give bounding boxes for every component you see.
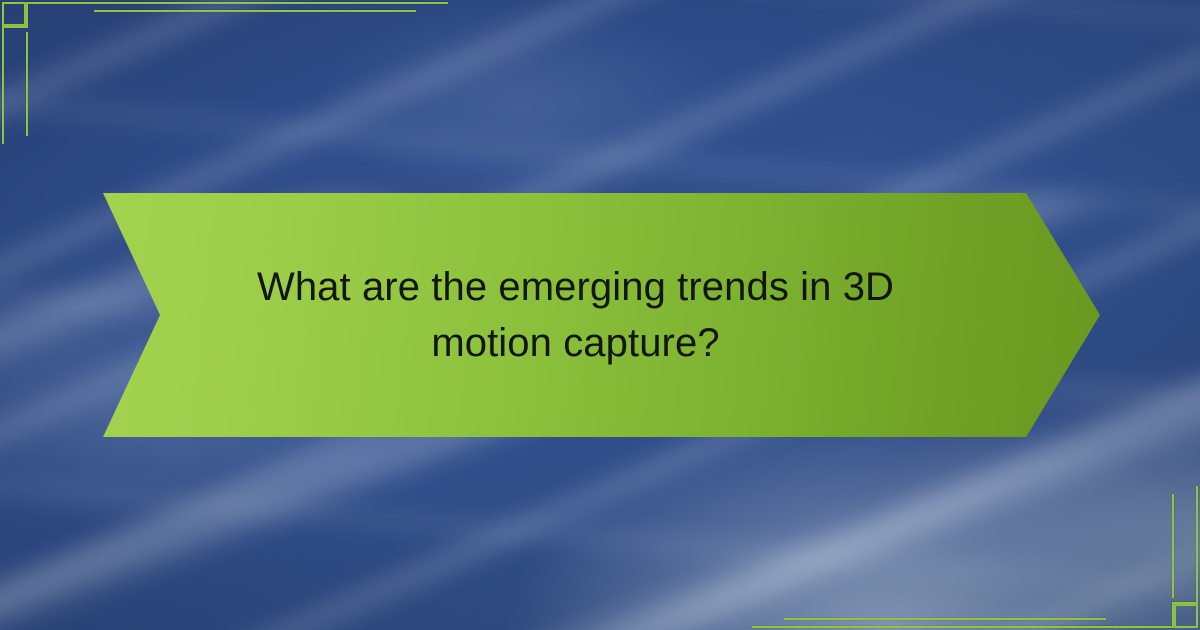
corner-square-icon	[2, 2, 26, 26]
corner-hook-horizontal-2	[1172, 602, 1198, 604]
corner-hook-vertical	[1172, 602, 1174, 628]
question-text: What are the emerging trends in 3D motio…	[216, 259, 936, 371]
question-banner: What are the emerging trends in 3D motio…	[103, 193, 1100, 437]
corner-long-line-outer	[752, 626, 1112, 628]
poster-canvas: What are the emerging trends in 3D motio…	[0, 0, 1200, 630]
corner-decoration-top-left	[0, 0, 230, 200]
corner-inner-vertical	[1172, 494, 1174, 598]
corner-hook-horizontal-2	[2, 26, 28, 28]
corner-hook-vertical	[26, 2, 28, 28]
corner-decoration-bottom-right	[970, 430, 1200, 630]
corner-edge-vertical	[2, 26, 4, 144]
corner-edge-vertical	[1196, 486, 1198, 604]
corner-square-icon	[1174, 604, 1198, 628]
corner-long-line-inner	[94, 10, 416, 12]
corner-long-line-outer	[88, 2, 448, 4]
corner-long-line-inner	[784, 618, 1106, 620]
corner-inner-vertical	[26, 32, 28, 136]
